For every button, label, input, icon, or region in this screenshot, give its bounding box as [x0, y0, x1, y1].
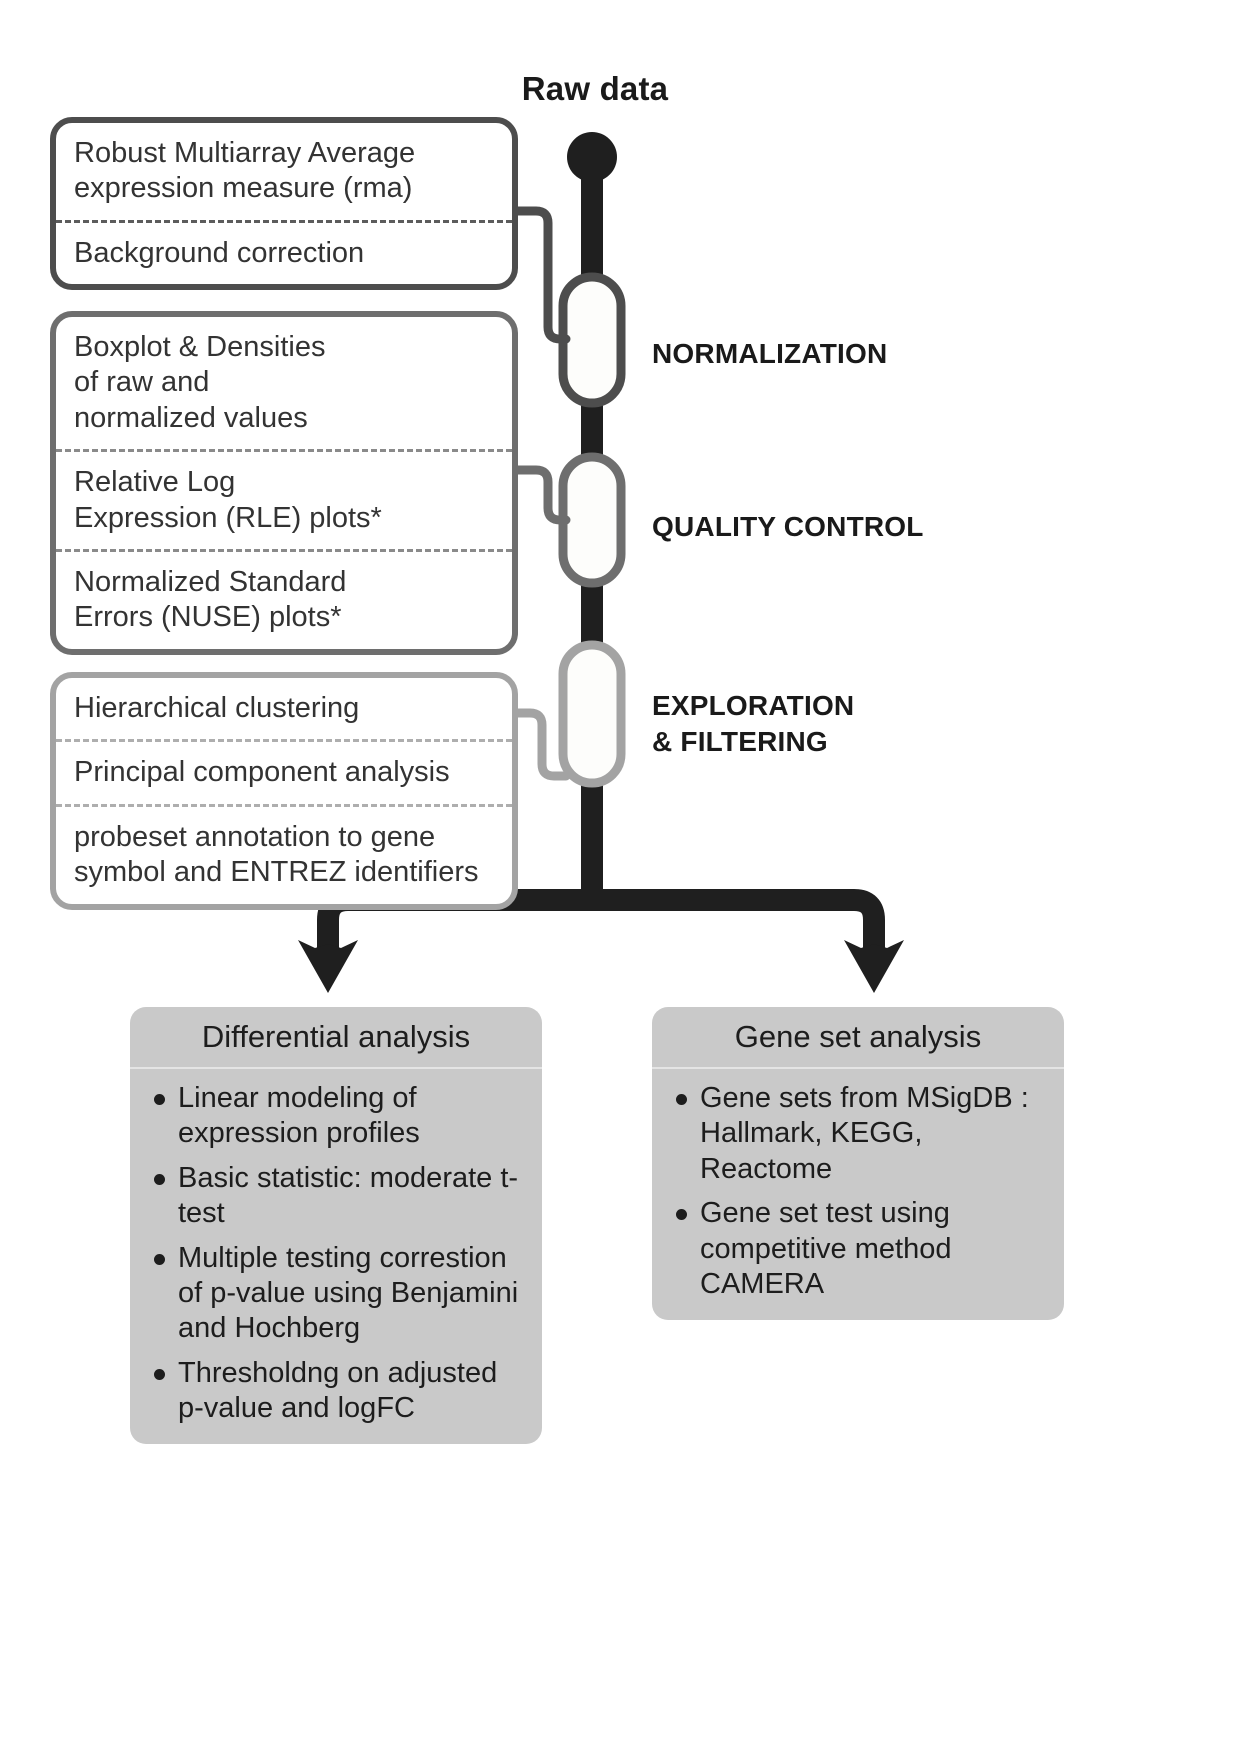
branch-right-stem [592, 900, 874, 950]
bullet-dot-icon [154, 1369, 165, 1380]
connector-quality [518, 470, 566, 520]
list-item-label: Linear modeling of expression profiles [178, 1082, 420, 1149]
stage-label-quality-control: QUALITY CONTROL [652, 509, 924, 545]
list-item-label: Gene sets from MSigDB : Hallmark, KEGG, … [700, 1082, 1029, 1185]
spine-trunk [581, 157, 603, 905]
workflow-diagram: Raw data Robust Multiarray Average expre… [0, 0, 1240, 1753]
spine-bead-quality [563, 457, 621, 583]
stage-step-boxplot-densities: Boxplot & Densities of raw and normalize… [56, 317, 512, 449]
panel-differential-analysis: Differential analysis Linear modeling of… [130, 1007, 542, 1444]
bullet-list-differential-analysis: Linear modeling of expression profiles B… [130, 1069, 542, 1444]
stage-box-quality-control: Boxplot & Densities of raw and normalize… [50, 311, 518, 655]
stage-step-probeset-annotation: probeset annotation to gene symbol and E… [56, 804, 512, 904]
list-item-label: Multiple testing correstion of p-value u… [178, 1242, 518, 1345]
stage-label-exploration-filtering: EXPLORATION & FILTERING [652, 688, 854, 760]
panel-title-differential-analysis: Differential analysis [130, 1007, 542, 1069]
panel-gene-set-analysis: Gene set analysis Gene sets from MSigDB … [652, 1007, 1064, 1320]
arrowhead-geneset [844, 940, 904, 993]
panel-title-gene-set-analysis: Gene set analysis [652, 1007, 1064, 1069]
stage-step-hierarchical-clustering: Hierarchical clustering [56, 678, 512, 739]
spine-bead-normalization [563, 277, 621, 403]
raw-data-title: Raw data [430, 70, 760, 108]
list-item-label: Thresholdng on adjusted p-value and logF… [178, 1357, 497, 1424]
bullet-dot-icon [676, 1209, 687, 1220]
stage-step-pca: Principal component analysis [56, 739, 512, 803]
stage-box-exploration-filtering: Hierarchical clustering Principal compon… [50, 672, 518, 910]
stage-step-rle-plots: Relative Log Expression (RLE) plots* [56, 449, 512, 549]
bullet-dot-icon [154, 1174, 165, 1185]
stage-step-rma: Robust Multiarray Average expression mea… [56, 123, 512, 220]
stage-step-nuse-plots: Normalized Standard Errors (NUSE) plots* [56, 549, 512, 649]
bullet-list-gene-set-analysis: Gene sets from MSigDB : Hallmark, KEGG, … [652, 1069, 1064, 1320]
bullet-dot-icon [676, 1094, 687, 1105]
bullet-dot-icon [154, 1094, 165, 1105]
bullet-dot-icon [154, 1254, 165, 1265]
arrowhead-differential [298, 940, 358, 993]
list-item-label: Basic statistic: moderate t-test [178, 1162, 518, 1229]
list-item: Gene sets from MSigDB : Hallmark, KEGG, … [670, 1081, 1048, 1187]
connector-exploration [518, 713, 566, 776]
list-item: Basic statistic: moderate t-test [148, 1161, 526, 1232]
connector-normalization [518, 211, 566, 339]
list-item-label: Gene set test using competitive method C… [700, 1197, 951, 1300]
list-item: Thresholdng on adjusted p-value and logF… [148, 1356, 526, 1427]
stage-step-background-correction: Background correction [56, 220, 512, 284]
stage-label-normalization: NORMALIZATION [652, 336, 887, 372]
stage-box-normalization: Robust Multiarray Average expression mea… [50, 117, 518, 290]
spine-bead-exploration [563, 645, 621, 783]
spine-head-knob [567, 132, 617, 182]
list-item: Gene set test using competitive method C… [670, 1196, 1048, 1302]
list-item: Linear modeling of expression profiles [148, 1081, 526, 1152]
list-item: Multiple testing correstion of p-value u… [148, 1241, 526, 1347]
